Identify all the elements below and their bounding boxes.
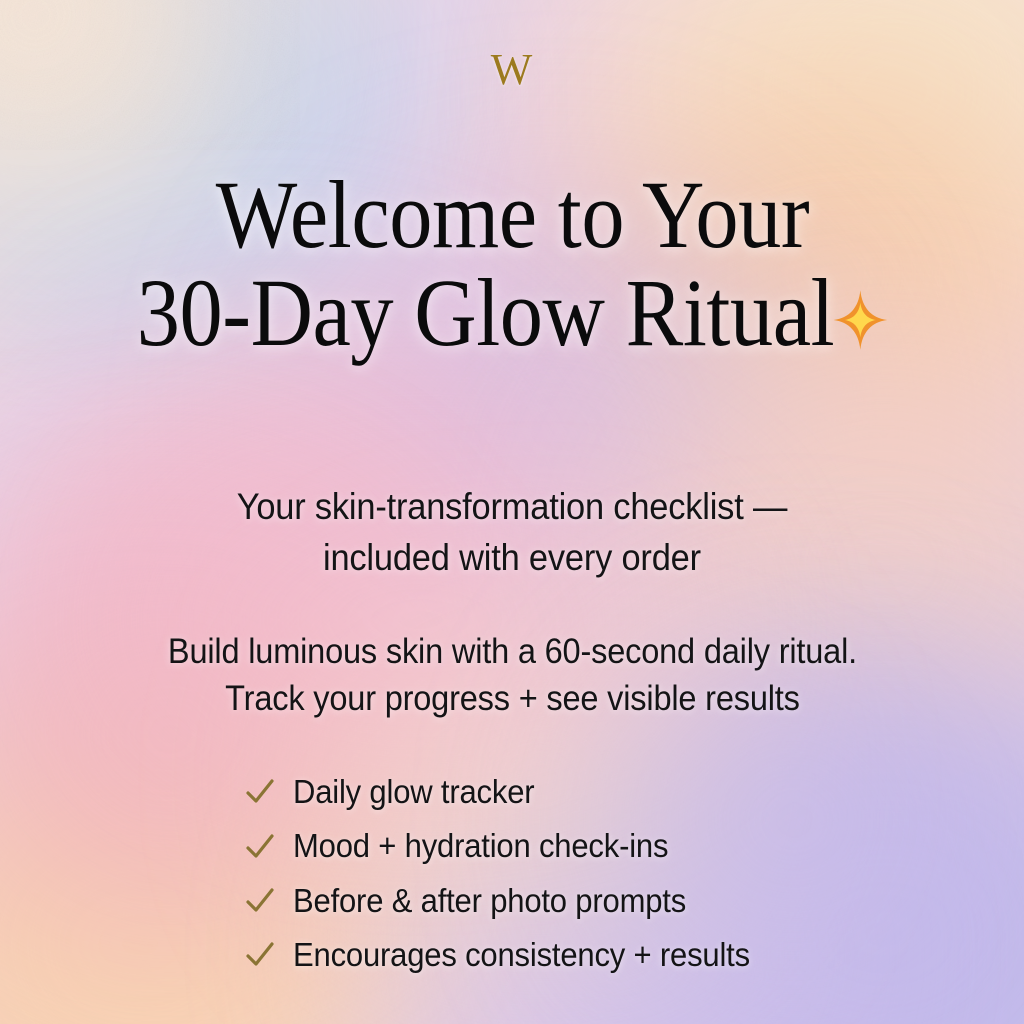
- subheadline: Your skin-transformation checklist — inc…: [237, 482, 787, 583]
- list-item-label: Before & after photo prompts: [293, 883, 686, 919]
- list-item: Daily glow tracker: [244, 774, 779, 810]
- list-item: Mood + hydration check-ins: [244, 828, 779, 864]
- list-item-label: Encourages consistency + results: [293, 937, 750, 973]
- check-mark-icon: [244, 776, 276, 808]
- subheadline-line-1: Your skin-transformation checklist —: [237, 482, 787, 532]
- page-title-line-2-wrap: 30-Day Glow Ritual: [136, 266, 887, 360]
- subheadline-line-2: included with every order: [237, 533, 787, 583]
- card-content: W Welcome to Your 30-Day Glow Ritual You…: [0, 0, 1024, 1024]
- list-item: Encourages consistency + results: [244, 937, 779, 973]
- list-item: Before & after photo prompts: [244, 883, 779, 919]
- page-title-line-1: Welcome to Your: [136, 168, 887, 262]
- body-copy: Build luminous skin with a 60-second dai…: [167, 629, 856, 722]
- check-mark-icon: [244, 885, 276, 917]
- four-point-sparkle-icon: [832, 289, 888, 351]
- body-copy-line-1: Build luminous skin with a 60-second dai…: [167, 629, 856, 676]
- promo-card: W Welcome to Your 30-Day Glow Ritual You…: [0, 0, 1024, 1024]
- list-item-label: Daily glow tracker: [293, 774, 534, 810]
- benefits-checklist: Daily glow tracker Mood + hydration chec…: [244, 774, 779, 991]
- check-mark-icon: [244, 831, 276, 863]
- page-title-line-2: 30-Day Glow Ritual: [136, 259, 833, 366]
- list-item-label: Mood + hydration check-ins: [293, 828, 668, 864]
- brand-logo-w: W: [491, 48, 534, 92]
- check-mark-icon: [244, 939, 276, 971]
- page-title: Welcome to Your 30-Day Glow Ritual: [136, 168, 887, 360]
- body-copy-line-2: Track your progress + see visible result…: [167, 676, 856, 723]
